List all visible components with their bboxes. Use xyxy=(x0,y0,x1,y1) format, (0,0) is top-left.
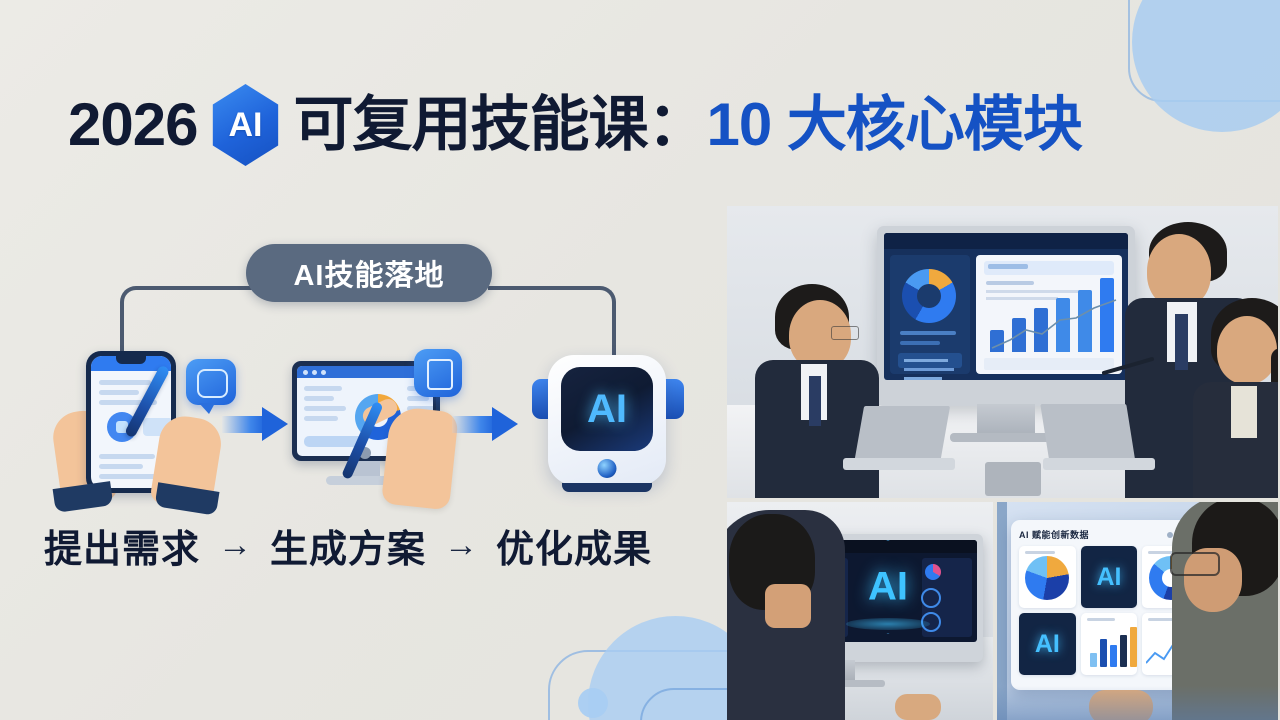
poster-canvas: 2026 AI 可复用技能课： 10 大核心模块 AI技能落地 xyxy=(0,0,1280,720)
step-label-2: 生成方案 xyxy=(270,518,426,573)
ai-tile-card-2: AI xyxy=(1019,613,1076,675)
dot-decor-bottom xyxy=(578,688,608,718)
poster-title: 2026 AI 可复用技能课： 10 大核心模块 xyxy=(68,84,1082,166)
flow-pill-badge: AI技能落地 xyxy=(246,244,492,302)
ai-hexagon-badge-icon: AI xyxy=(207,84,283,166)
flow-arrow-2-icon xyxy=(452,407,518,441)
tablet-icon xyxy=(414,349,462,397)
ai-hologram-label: AI xyxy=(868,564,908,609)
illustration-ai-robot: AI xyxy=(528,345,688,510)
man-viewing-ai-dashboard-photo: AI xyxy=(727,502,993,720)
meeting-presentation-photo xyxy=(727,206,1278,498)
ai-tile-label-2: AI xyxy=(1035,630,1060,659)
step-label-3: 优化成果 xyxy=(496,518,652,573)
step-label-1: 提出需求 xyxy=(44,518,200,573)
dashboard-line-chart xyxy=(990,296,1120,354)
rounded-outline-decor-top-right xyxy=(1128,0,1280,102)
person-back-view xyxy=(727,510,845,720)
bar-chart-card xyxy=(1081,613,1138,675)
imac-display xyxy=(877,226,1135,406)
step-arrow-1: → xyxy=(218,526,252,565)
robot-lens-icon xyxy=(598,459,617,478)
pointing-hand-shape xyxy=(381,406,459,511)
ai-tile-card-1: AI xyxy=(1081,546,1138,608)
robot-face-label: AI xyxy=(587,387,627,432)
ai-tile-label-1: AI xyxy=(1096,563,1121,592)
illustration-monitor-hand xyxy=(278,345,478,510)
title-main-blue: 10 大核心模块 xyxy=(706,95,1081,155)
title-main-dark: 可复用技能课： xyxy=(293,95,706,155)
step-arrow-2: → xyxy=(444,526,478,565)
flow-pill-label: AI技能落地 xyxy=(293,252,444,294)
dashboard-donut-chart xyxy=(902,269,956,323)
person-seated-right xyxy=(1197,298,1278,498)
illustration-phone-hand xyxy=(44,345,234,510)
ai-badge-label: AI xyxy=(228,106,262,145)
flow-step-labels: 提出需求 → 生成方案 → 优化成果 xyxy=(44,518,704,573)
title-year: 2026 xyxy=(68,95,197,155)
circle-decor-top-right xyxy=(1132,0,1280,132)
eyeglasses-icon xyxy=(1170,552,1220,576)
person-viewing-ai-board-photo: AI 赋能创新数据 AI AI xyxy=(997,502,1278,720)
ai-robot-icon: AI xyxy=(548,355,666,485)
pie-chart-card xyxy=(1019,546,1076,608)
chat-bubble-icon xyxy=(186,359,236,405)
dashboard-bar-chart xyxy=(976,255,1122,374)
